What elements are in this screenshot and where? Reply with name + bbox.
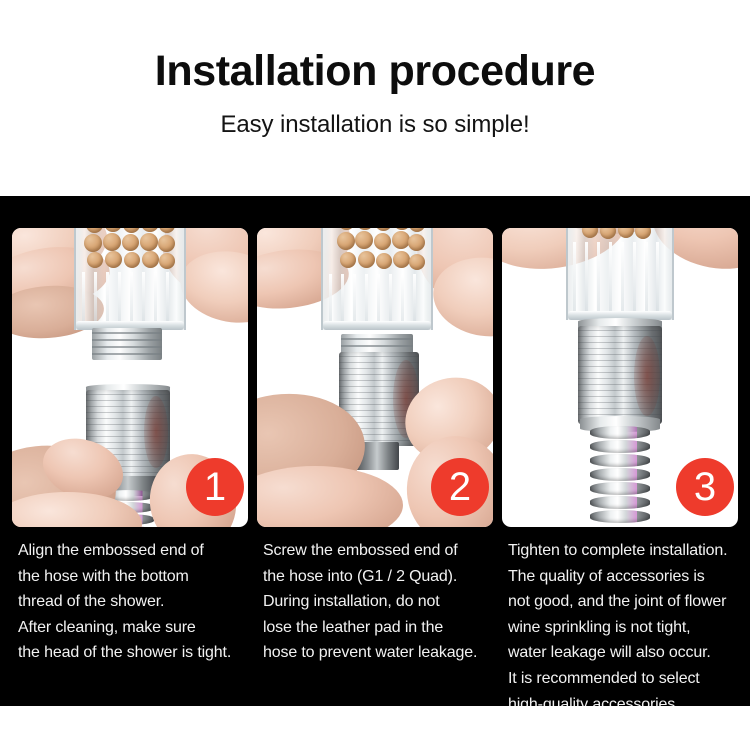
step-badge-1-number: 1 bbox=[204, 467, 226, 507]
step-badge-2: 2 bbox=[431, 458, 489, 516]
page-subtitle: Easy installation is so simple! bbox=[0, 110, 750, 140]
page-title: Installation procedure bbox=[0, 46, 750, 96]
step-panel-3: 3 bbox=[502, 228, 738, 527]
step-2-caption: Screw the embossed end of the hose into … bbox=[263, 538, 503, 717]
step-3-photo: 3 bbox=[502, 228, 738, 527]
step-badge-3-number: 3 bbox=[694, 467, 716, 507]
step-badge-2-number: 2 bbox=[449, 467, 471, 507]
step-panel-2: 2 bbox=[257, 228, 493, 527]
step-panel-1: 1 bbox=[12, 228, 248, 527]
steps-photo-row: 1 bbox=[0, 228, 750, 527]
steps-band: 1 bbox=[0, 196, 750, 706]
page-header: Installation procedure Easy installation… bbox=[0, 0, 750, 196]
step-2-photo: 2 bbox=[257, 228, 493, 527]
step-1-photo: 1 bbox=[12, 228, 248, 527]
step-badge-3: 3 bbox=[676, 458, 734, 516]
step-badge-1: 1 bbox=[186, 458, 244, 516]
step-1-caption: Align the embossed end of the hose with … bbox=[18, 538, 256, 717]
step-3-caption: Tighten to complete installation. The qu… bbox=[508, 538, 748, 717]
page-footer bbox=[0, 706, 750, 750]
steps-caption-row: Align the embossed end of the hose with … bbox=[0, 538, 750, 717]
